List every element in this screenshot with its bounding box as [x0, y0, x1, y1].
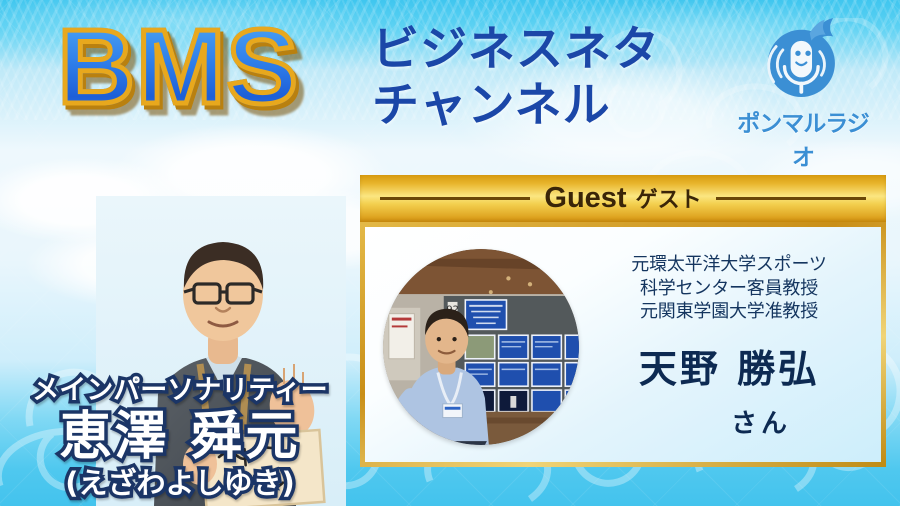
microphone-face-flame-icon [761, 18, 845, 102]
host-role-label: メインパーソナリティー [0, 376, 360, 406]
channel-title-line-1: ビジネスネタ [372, 22, 660, 78]
guest-label-ja: ゲスト [636, 182, 702, 214]
guest-panel-body: 92 [360, 222, 886, 467]
host-name-kana: (えざわよしゆき) [0, 468, 360, 500]
ponmaru-radio-wordmark: ポンマルラジオ [728, 104, 878, 172]
guest-credential-line: 科学センター客員教授 [599, 277, 859, 301]
guest-credential-line: 元関東学園大学准教授 [599, 300, 859, 324]
guest-info: 元環太平洋大学スポーツ 科学センター客員教授 元関東学園大学准教授 天野 勝弘 … [597, 239, 881, 451]
guest-credential-line: 元環太平洋大学スポーツ [599, 253, 859, 277]
header-rule-right [716, 197, 866, 200]
channel-title: ビジネスネタ チャンネル [372, 22, 660, 135]
guest-credentials: 元環太平洋大学スポーツ 科学センター客員教授 元関東学園大学准教授 [599, 253, 859, 325]
header-rule-left [380, 197, 530, 200]
title-card: BMS ビジネスネタ チャンネル ポンマルラジオ [0, 0, 900, 506]
guest-label-en: Guest [544, 182, 626, 215]
guest-photo-container: 92 [365, 227, 597, 462]
guest-honorific: さん [599, 403, 859, 440]
guest-header-labels: Guest ゲスト [544, 182, 701, 215]
host-caption: メインパーソナリティー 恵澤 舜元 (えざわよしゆき) [0, 376, 360, 500]
guest-poster-presentation-photo: 92 [383, 249, 579, 445]
guest-photo: 92 [383, 249, 579, 445]
bms-logo: BMS [58, 14, 300, 120]
guest-panel: Guest ゲスト [360, 175, 886, 467]
guest-name: 天野 勝弘 [599, 338, 859, 393]
ponmaru-radio-logo: ポンマルラジオ [728, 18, 878, 172]
guest-panel-header: Guest ゲスト [360, 175, 886, 222]
channel-title-line-2: チャンネル [372, 78, 660, 134]
host-name: 恵澤 舜元 [0, 408, 360, 467]
